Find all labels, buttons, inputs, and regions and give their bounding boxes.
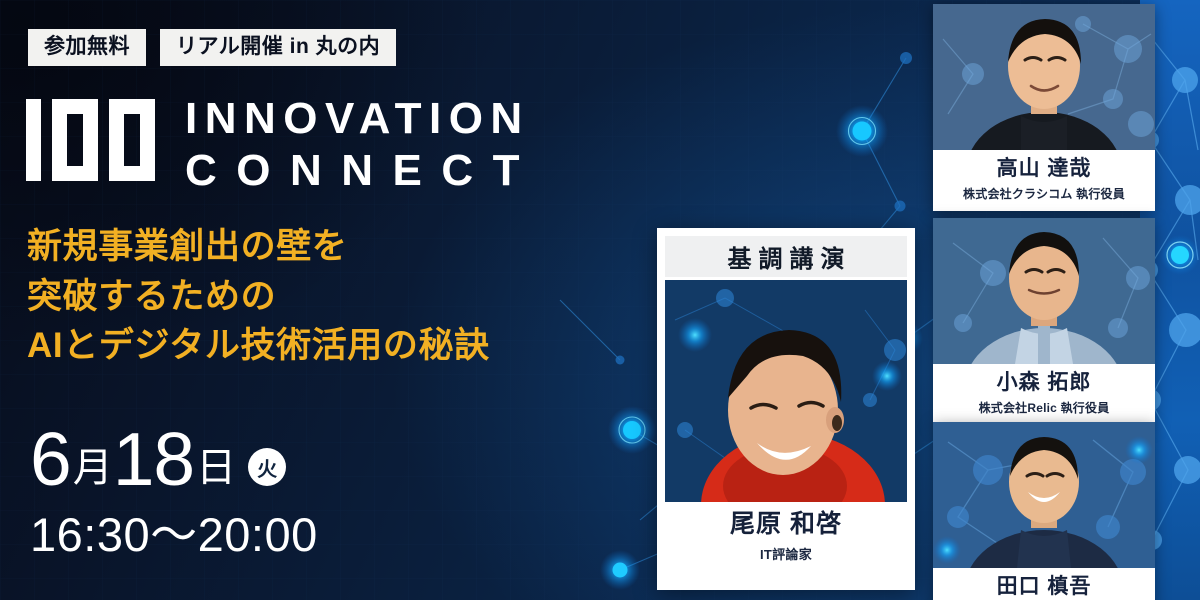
- speaker-info-2: 小森 拓郎 株式会社Relic 執行役員: [933, 364, 1155, 425]
- wordmark-connect: CONNECT: [185, 146, 539, 195]
- speaker-info-3: 田口 槙吾 株式会社ユーザベース 上級執行役員: [933, 568, 1155, 600]
- speaker-photo-2: [933, 218, 1155, 364]
- brand-logo: INNOVATION CONNECT: [26, 96, 539, 195]
- date-month-number: 6: [30, 425, 71, 494]
- speaker-photo-backdrop-1: [933, 4, 1155, 150]
- keynote-speaker-card: 基調講演: [657, 228, 915, 590]
- event-date: 6 月 18 日 火: [30, 425, 318, 494]
- headline-block: 新規事業創出の壁を 突破するための AIとデジタル技術活用の秘訣: [27, 222, 490, 371]
- badge-group: 参加無料 リアル開催 in 丸の内: [28, 29, 396, 66]
- logo-100-mark: [26, 96, 155, 181]
- speaker-card-3: 田口 槙吾 株式会社ユーザベース 上級執行役員: [933, 422, 1155, 600]
- speaker-org-1: 株式会社クラシコム 執行役員: [937, 185, 1151, 202]
- logo-wordmark: INNOVATION CONNECT: [185, 96, 539, 195]
- speaker-photo-backdrop-3: [933, 422, 1155, 568]
- speaker-photo-3: [933, 422, 1155, 568]
- speaker-photo-1: [933, 4, 1155, 150]
- event-banner: 参加無料 リアル開催 in 丸の内 INNOVATION CONNECT 新規事…: [0, 0, 1200, 600]
- speaker-info-1: 高山 達哉 株式会社クラシコム 執行役員: [933, 150, 1155, 211]
- speaker-card-1: 高山 達哉 株式会社クラシコム 執行役員: [933, 4, 1155, 211]
- speaker-name-1: 高山 達哉: [937, 157, 1151, 181]
- keynote-name-block: 尾原 和啓 IT評論家: [665, 502, 907, 563]
- keynote-speaker-title: IT評論家: [665, 544, 907, 563]
- event-time: 16:30〜20:00: [30, 511, 318, 558]
- left-content: 参加無料 リアル開催 in 丸の内 INNOVATION CONNECT 新規事…: [0, 0, 640, 600]
- speaker-name-2: 小森 拓郎: [937, 371, 1151, 395]
- logo-digit-zero-b: [109, 99, 155, 181]
- badge-free: 参加無料: [28, 29, 146, 66]
- logo-digit-one: [26, 99, 41, 181]
- speaker-org-2: 株式会社Relic 執行役員: [937, 399, 1151, 416]
- logo-digit-zero-a: [52, 99, 98, 181]
- wordmark-innovation: INNOVATION: [185, 96, 539, 142]
- keynote-photo: [665, 280, 907, 502]
- keynote-label: 基調講演: [665, 236, 907, 277]
- date-weekday-badge: 火: [248, 448, 286, 486]
- keynote-photo-backdrop: [665, 280, 907, 502]
- headline-line-1: 新規事業創出の壁を: [27, 222, 490, 272]
- date-time-block: 6 月 18 日 火 16:30〜20:00: [30, 425, 318, 558]
- keynote-speaker-name: 尾原 和啓: [665, 511, 907, 539]
- headline-line-2: 突破するための: [27, 272, 490, 322]
- badge-venue: リアル開催 in 丸の内: [160, 29, 396, 66]
- speaker-name-3: 田口 槙吾: [937, 575, 1151, 599]
- date-day-number: 18: [113, 425, 194, 494]
- headline-line-3: AIとデジタル技術活用の秘訣: [27, 321, 490, 371]
- date-day-unit: 日: [196, 448, 236, 494]
- speaker-card-2: 小森 拓郎 株式会社Relic 執行役員: [933, 218, 1155, 425]
- speaker-photo-backdrop-2: [933, 218, 1155, 364]
- date-month-unit: 月: [73, 448, 113, 494]
- speaker-rail: 高山 達哉 株式会社クラシコム 執行役員: [915, 0, 1200, 600]
